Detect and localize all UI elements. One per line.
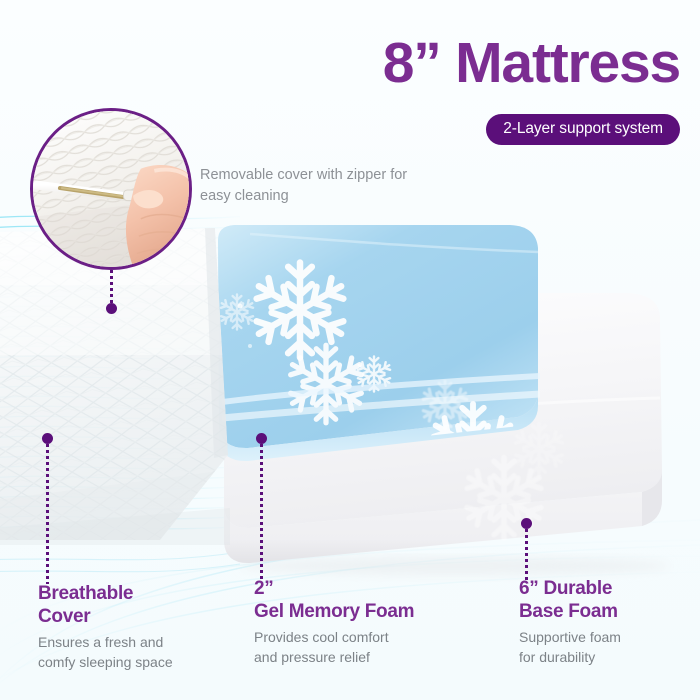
connector-dot [521,518,532,529]
connector-line [110,270,113,303]
connector-dot [256,433,267,444]
layer-description: Provides cool comfort and pressure relie… [254,628,474,667]
page-title: 8” Mattress [210,33,680,93]
layer-title: 2” Gel Memory Foam [254,578,474,623]
status-badge: 2-Layer support system [486,114,680,145]
layer-label-base-foam: 6” Durable Base Foam Supportive foam for… [519,578,699,667]
connector-line [46,444,49,584]
layer-description: Supportive foam for durability [519,628,699,667]
layer-label-breathable-cover: Breathable Cover Ensures a fresh and com… [38,583,228,672]
zipper-callout-text: Removable cover with zipper for easy cle… [200,165,440,207]
zipper-photo [33,111,189,267]
infographic-canvas: 8” Mattress 2-Layer support system [0,0,700,700]
layer-label-gel-memory-foam: 2” Gel Memory Foam Provides cool comfort… [254,578,474,667]
connector-dot [42,433,53,444]
breathable-cover-panel [0,225,240,545]
layer-title: 6” Durable Base Foam [519,578,699,623]
connector-dot [106,303,117,314]
layer-title: Breathable Cover [38,583,228,628]
connector-line [525,529,528,581]
layer-description: Ensures a fresh and comfy sleeping space [38,633,228,672]
connector-line [260,444,263,580]
zipper-detail-inset [30,108,192,270]
